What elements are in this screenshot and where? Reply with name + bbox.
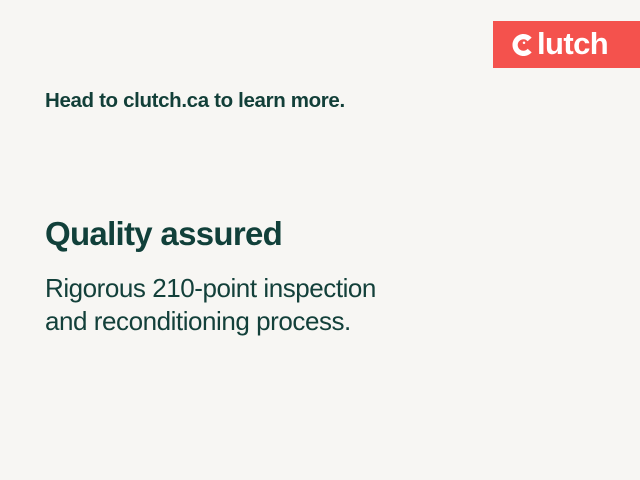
body-copy: Rigorous 210-point inspection and recond… — [45, 272, 515, 338]
body-copy-line: Rigorous 210-point inspection — [45, 272, 515, 305]
lead-text: Head to clutch.ca to learn more. — [45, 88, 345, 114]
clutch-logo[interactable]: lutch — [493, 21, 640, 68]
slide-canvas: lutch Head to clutch.ca to learn more. Q… — [0, 0, 640, 480]
body-copy-line: and reconditioning process. — [45, 305, 515, 338]
clutch-wordmark: lutch — [537, 28, 608, 59]
clutch-c-icon — [511, 33, 536, 58]
page-title: Quality assured — [45, 216, 282, 253]
